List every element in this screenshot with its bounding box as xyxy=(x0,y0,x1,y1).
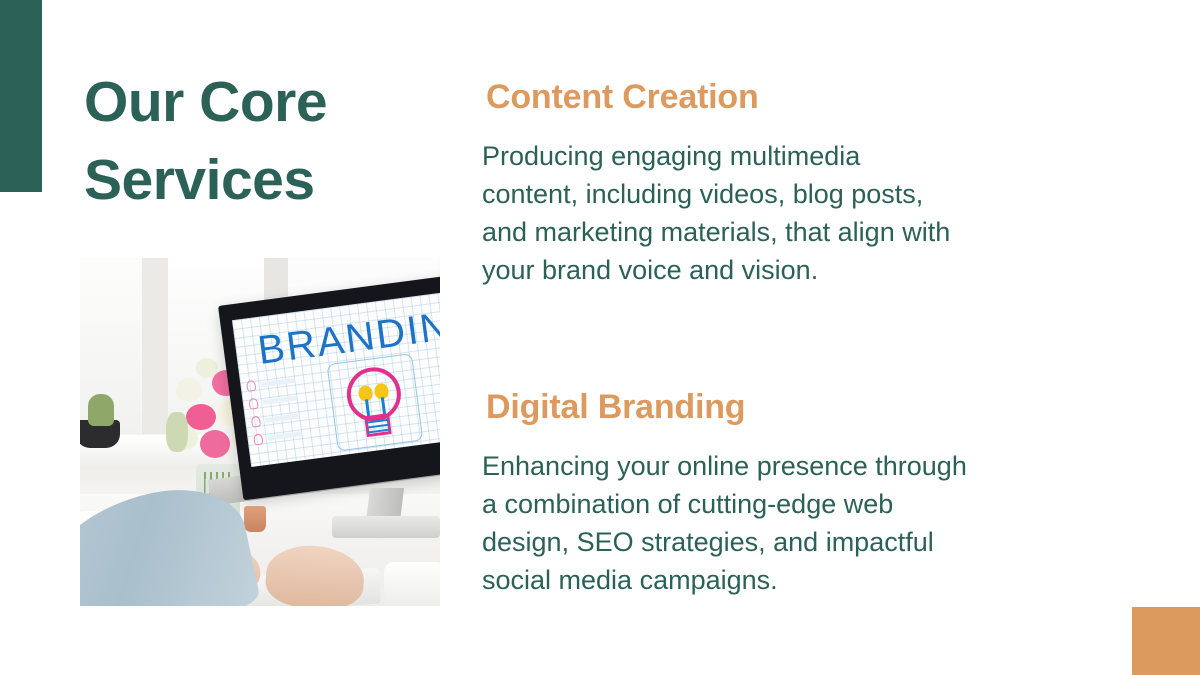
body-line: your brand voice and vision. xyxy=(482,251,1150,289)
photo-flower xyxy=(176,378,202,402)
photo-monitor-screen: BRANDING xyxy=(232,287,440,467)
mini-bulb-icon xyxy=(248,398,258,410)
page-title-line-1: Our Core xyxy=(84,63,414,141)
photo-imac-monitor: BRANDING xyxy=(218,271,440,500)
slide-canvas: Our Core Services xyxy=(0,0,1200,675)
photo-content: BRANDING xyxy=(80,258,440,606)
page-title: Our Core Services xyxy=(84,63,414,219)
orange-accent-square xyxy=(1132,607,1200,675)
body-line: content, including videos, blog posts, xyxy=(482,175,1150,213)
service-body-digital-branding: Enhancing your online presence through a… xyxy=(482,447,1150,599)
service-heading-content-creation: Content Creation xyxy=(486,78,1150,117)
placeholder-line xyxy=(263,396,297,405)
service-heading-digital-branding: Digital Branding xyxy=(486,388,1150,427)
body-line: and marketing materials, that align with xyxy=(482,213,1150,251)
body-line: a combination of cutting-edge web xyxy=(482,485,1150,523)
workspace-photo: BRANDING xyxy=(80,258,440,606)
photo-window-frame-a xyxy=(142,258,168,438)
photo-cactus xyxy=(88,394,114,426)
lightbulb-icon xyxy=(339,361,410,444)
body-line: social media campaigns. xyxy=(482,561,1150,599)
mini-bulb-icon xyxy=(246,380,256,392)
placeholder-line xyxy=(260,378,294,387)
page-title-line-2: Services xyxy=(84,141,414,219)
photo-white-mug xyxy=(384,562,440,606)
placeholder-line xyxy=(265,413,299,422)
photo-flower xyxy=(200,430,230,458)
mini-bulb-icon xyxy=(253,433,263,445)
photo-terracotta-cup xyxy=(244,506,266,532)
photo-flower xyxy=(186,404,216,430)
body-line: Producing engaging multimedia xyxy=(482,137,1150,175)
body-line: Enhancing your online presence through xyxy=(482,447,1150,485)
list-item xyxy=(253,426,316,445)
service-block-digital-branding: Digital Branding Enhancing your online p… xyxy=(482,388,1150,599)
list-item xyxy=(248,391,311,410)
photo-screen-side-list xyxy=(246,373,317,452)
service-block-content-creation: Content Creation Producing engaging mult… xyxy=(482,78,1150,289)
placeholder-line xyxy=(267,431,301,440)
body-line: design, SEO strategies, and impactful xyxy=(482,523,1150,561)
photo-bulb-outline-box xyxy=(327,353,424,451)
photo-foliage xyxy=(166,412,188,452)
green-accent-bar xyxy=(0,0,42,192)
mini-bulb-icon xyxy=(251,416,261,428)
photo-monitor-stand-base xyxy=(332,516,440,538)
list-item xyxy=(251,409,314,428)
service-body-content-creation: Producing engaging multimedia content, i… xyxy=(482,137,1150,289)
